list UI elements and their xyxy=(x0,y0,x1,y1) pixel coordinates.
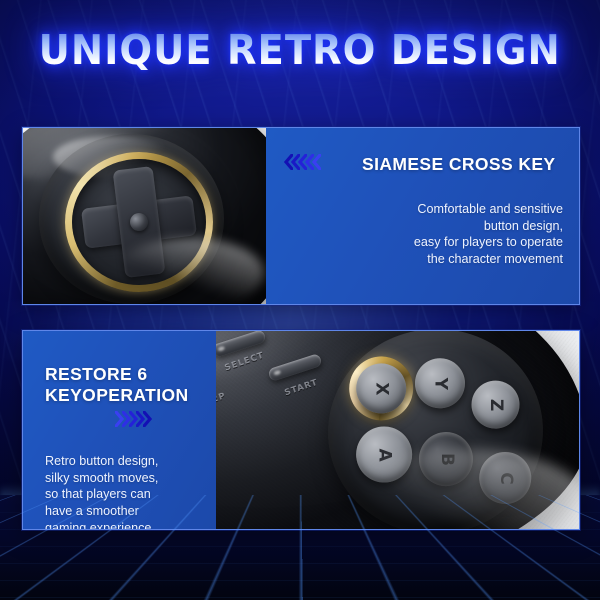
feature-card-restore-6-key-operation: RESTORE 6 KEYOPERATION Retro button desi… xyxy=(22,330,580,530)
chevron-right-group xyxy=(115,411,150,427)
page-title-text: UNIQUE RETRO DESIGN xyxy=(39,30,561,71)
button-z: Z xyxy=(469,378,522,431)
feature-heading: SIAMESE CROSS KEY xyxy=(362,154,556,175)
feature-description: Retro button design, silky smooth moves,… xyxy=(45,453,158,530)
dpad-photo-scene xyxy=(23,128,266,304)
button-y: Y xyxy=(413,356,468,411)
button-x: X xyxy=(354,361,409,416)
x-button-gold-ring: X xyxy=(346,353,416,423)
product-photo-dpad xyxy=(23,128,266,304)
product-photo-controller: SELECT START 2P X Y Z xyxy=(216,331,579,529)
button-y-label: Y xyxy=(431,377,448,389)
chevron-left-group xyxy=(284,154,319,170)
button-x-label: X xyxy=(373,382,390,395)
shell-edge-highlight xyxy=(114,238,264,304)
promo-banner: UNIQUE RETRO DESIGN xyxy=(0,0,600,600)
button-z-label: Z xyxy=(487,398,504,410)
feature-heading: RESTORE 6 KEYOPERATION xyxy=(45,364,189,407)
feature-panel-siamese-cross-key: SIAMESE CROSS KEY Comfortable and sensit… xyxy=(266,128,579,304)
chevron-left-icon xyxy=(312,154,321,170)
feature-description: Comfortable and sensitive button design,… xyxy=(414,201,563,268)
feature-panel-restore-6-key-operation: RESTORE 6 KEYOPERATION Retro button desi… xyxy=(23,331,216,529)
feature-card-siamese-cross-key: SIAMESE CROSS KEY Comfortable and sensit… xyxy=(22,127,580,305)
controller-photo-scene: SELECT START 2P X Y Z xyxy=(216,331,579,529)
page-title: UNIQUE RETRO DESIGN xyxy=(0,30,600,71)
chevron-right-icon xyxy=(143,411,152,427)
